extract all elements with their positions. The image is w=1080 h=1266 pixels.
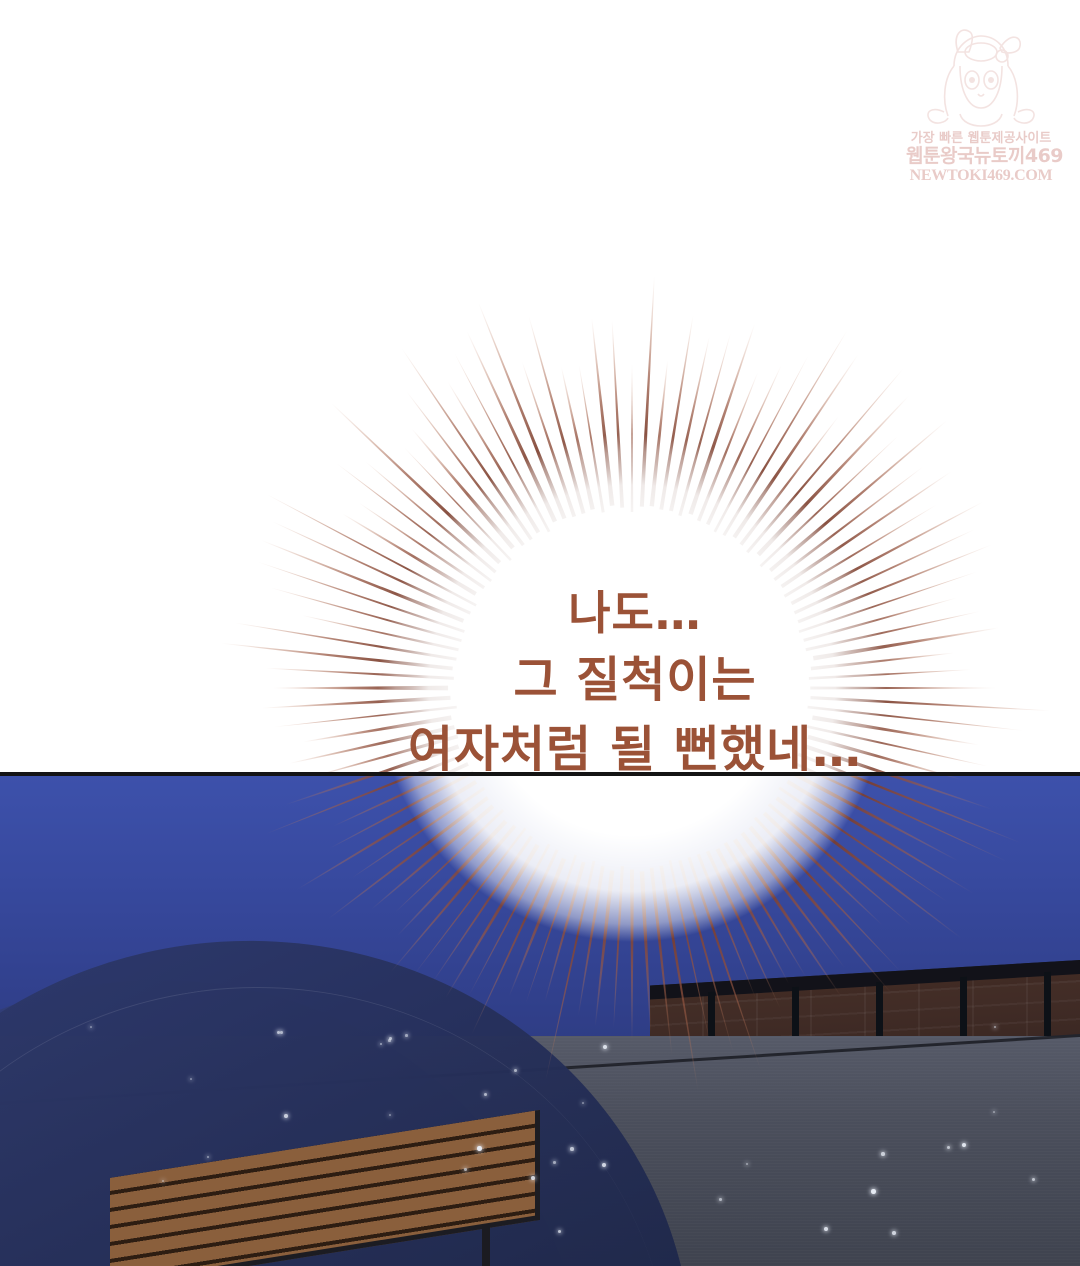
night-scene [0,776,1080,1266]
speech-line-2: 그 질척이는 [280,646,990,715]
speech-text-block: 나도… 그 질척이는 여자처럼 될 뻔했네… [280,580,990,786]
webtoon-panel: 나도… 그 질척이는 여자처럼 될 뻔했네… [0,0,1080,1266]
speech-line-3: 여자처럼 될 뻔했네… [280,715,990,786]
bench-leg [482,1224,490,1266]
speech-line-1: 나도… [280,580,990,646]
